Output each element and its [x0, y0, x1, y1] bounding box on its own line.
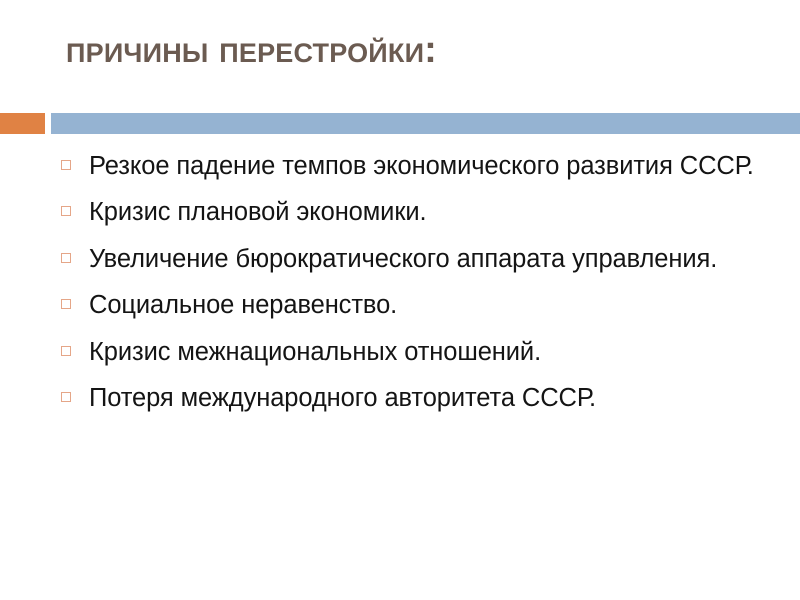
list-item-label: Кризис плановой экономики. — [89, 196, 758, 228]
list-item: Увеличение бюрократического аппарата упр… — [58, 243, 758, 275]
hollow-square-bullet-icon — [61, 346, 71, 356]
presentation-slide: причины перестройки: Резкое падение темп… — [0, 0, 800, 600]
list-item: Потеря международного авторитета СССР. — [58, 382, 758, 414]
page-title: причины перестройки: — [66, 28, 766, 73]
hollow-square-bullet-icon — [61, 206, 71, 216]
list-item-label: Увеличение бюрократического аппарата упр… — [89, 243, 758, 275]
list-item: Резкое падение темпов экономического раз… — [58, 150, 758, 182]
list-item: Кризис межнациональных отношений. — [58, 336, 758, 368]
divider-bar — [51, 113, 800, 134]
list-item-label: Потеря международного авторитета СССР. — [89, 382, 758, 414]
title-divider — [0, 112, 800, 135]
list-item-label: Социальное неравенство. — [89, 289, 758, 321]
list-item-label: Резкое падение темпов экономического раз… — [89, 150, 758, 182]
list-item: Социальное неравенство. — [58, 289, 758, 321]
list-item: Кризис плановой экономики. — [58, 196, 758, 228]
divider-accent-block — [0, 113, 45, 134]
list-item-label: Кризис межнациональных отношений. — [89, 336, 758, 368]
bullet-list: Резкое падение темпов экономического раз… — [58, 150, 758, 414]
hollow-square-bullet-icon — [61, 253, 71, 263]
hollow-square-bullet-icon — [61, 160, 71, 170]
hollow-square-bullet-icon — [61, 392, 71, 402]
hollow-square-bullet-icon — [61, 299, 71, 309]
